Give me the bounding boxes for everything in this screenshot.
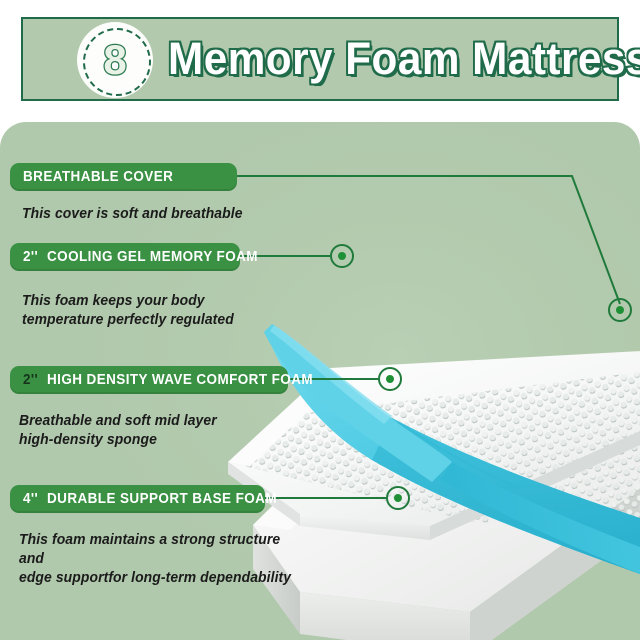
layer-label-text: DURABLE SUPPORT BASE FOAM: [47, 491, 277, 507]
layer-label-text: HIGH DENSITY WAVE COMFORT FOAM: [47, 372, 313, 388]
layer-label-breathable-cover[interactable]: BREATHABLE COVER: [10, 163, 237, 191]
layer-description-wave-comfort: Breathable and soft mid layer high-densi…: [19, 412, 240, 450]
layer-label-cooling-gel[interactable]: 2'' COOLING GEL MEMORY FOAM: [10, 243, 240, 271]
infographic-root: 8 Memory Foam Mattress: [0, 0, 640, 640]
step-number-text: 8: [103, 39, 126, 81]
layer-description-base-foam: This foam maintains a strong structure a…: [19, 531, 297, 588]
layer-label-base-foam[interactable]: 4'' DURABLE SUPPORT BASE FOAM: [10, 485, 265, 513]
layer-description-breathable-cover: This cover is soft and breathable: [22, 205, 262, 224]
step-number-badge: 8: [77, 22, 153, 98]
layer-label-text: BREATHABLE COVER: [23, 169, 173, 185]
page-title: Memory Foam Mattress: [168, 28, 640, 90]
layer-label-text: COOLING GEL MEMORY FOAM: [47, 249, 258, 265]
layer-label-wave-comfort[interactable]: 2'' HIGH DENSITY WAVE COMFORT FOAM: [10, 366, 288, 394]
main-panel: BREATHABLE COVER This cover is soft and …: [0, 122, 640, 640]
layer-description-cooling-gel: This foam keeps your body temperature pe…: [22, 292, 243, 330]
layer-measure-text: 4'': [23, 491, 38, 507]
header-band: 8 Memory Foam Mattress: [0, 0, 640, 122]
layer-measure-text: 2'': [23, 372, 38, 388]
layer-measure-text: 2'': [23, 249, 38, 265]
